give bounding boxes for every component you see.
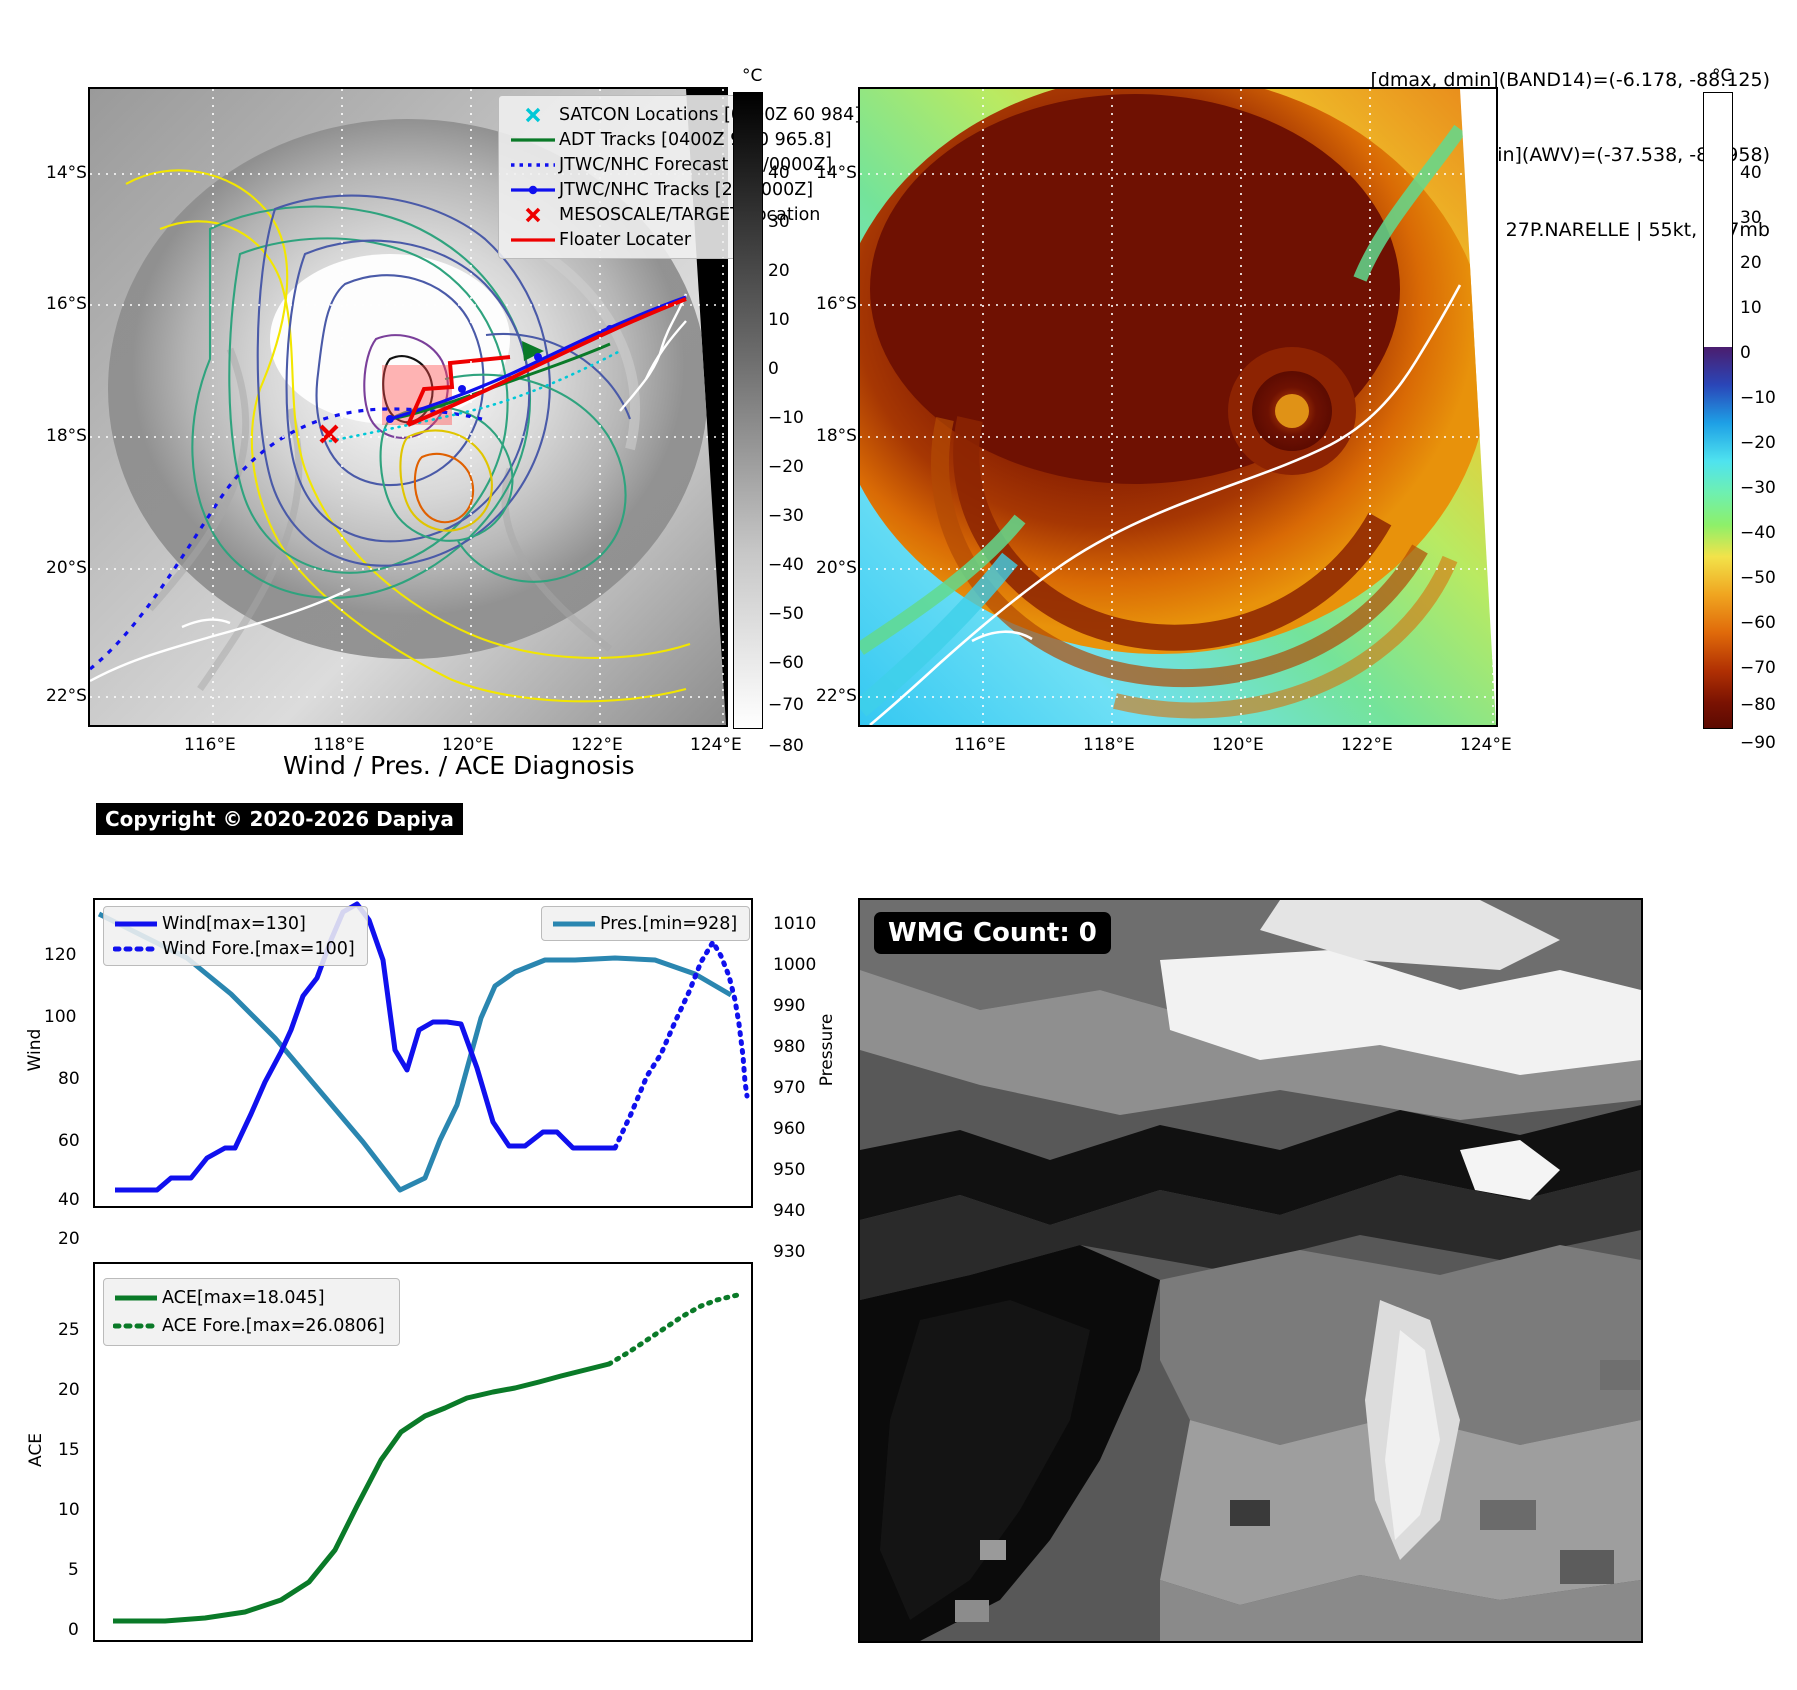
wind-axis-label: Wind (25, 1010, 45, 1090)
ir-colorbar (733, 92, 763, 729)
floater-line-icon (507, 234, 559, 246)
legend-item[interactable]: ADT Tracks [0400Z 90.0 965.8] (507, 127, 729, 152)
satcon-x-icon (507, 105, 559, 125)
legend-label: Floater Locater (559, 230, 691, 250)
pressure-chart-legend: Pres.[min=928] (541, 906, 750, 941)
legend-label: Pres.[min=928] (600, 914, 737, 934)
legend-item[interactable]: Pres.[min=928] (548, 911, 737, 936)
awv-satellite-panel[interactable] (858, 87, 1498, 727)
pressure-axis-label: Pressure (817, 1000, 837, 1100)
mesoscale-x-icon (507, 205, 559, 225)
wmg-count-badge: WMG Count: 0 (874, 912, 1111, 954)
legend-item[interactable]: ACE Fore.[max=26.0806] (110, 1312, 385, 1340)
legend-item[interactable]: ACE[max=18.045] (110, 1284, 385, 1312)
legend-label: JTWC/NHC Forecast [25/0000Z] (559, 155, 832, 175)
legend-item[interactable]: JTWC/NHC Forecast [25/0000Z] (507, 152, 729, 177)
legend-label: ACE Fore.[max=26.0806] (162, 1316, 385, 1336)
legend-label: SATCON Locations [0100Z 60 984] (559, 105, 861, 125)
awv-image (860, 89, 1496, 725)
pressure-line-icon (548, 918, 600, 930)
legend-item[interactable]: Wind[max=130] (110, 911, 355, 936)
legend-item[interactable]: Wind Fore.[max=100] (110, 936, 355, 961)
awv-colorbar (1703, 92, 1733, 729)
wind-forecast-dotted-icon (110, 943, 162, 955)
wind-chart-legend: Wind[max=130] Wind Fore.[max=100] (103, 906, 368, 966)
wmg-panel[interactable] (858, 898, 1643, 1643)
copyright-badge: Copyright © 2020-2026 Dapiya (96, 803, 463, 835)
legend-item[interactable]: SATCON Locations [0100Z 60 984] (507, 102, 729, 127)
wmg-image (860, 900, 1641, 1641)
legend-item[interactable]: MESOSCALE/TARGET Location (507, 202, 729, 227)
legend-label: Wind[max=130] (162, 914, 306, 934)
legend-label: ACE[max=18.045] (162, 1288, 325, 1308)
wind-line-icon (110, 918, 162, 930)
ace-line-icon (110, 1292, 162, 1304)
awv-colorbar-title: °C (1712, 66, 1732, 86)
ace-chart-legend: ACE[max=18.045] ACE Fore.[max=26.0806] (103, 1278, 400, 1346)
legend-label: ADT Tracks [0400Z 90.0 965.8] (559, 130, 832, 150)
jtwc-forecast-dotted-icon (507, 159, 559, 171)
adt-line-icon (507, 134, 559, 146)
ir-colorbar-title: °C (742, 66, 762, 86)
ace-forecast-dotted-icon (110, 1320, 162, 1332)
legend-item[interactable]: Floater Locater (507, 227, 729, 252)
legend-label: Wind Fore.[max=100] (162, 939, 355, 959)
ace-axis-label: ACE (26, 1412, 46, 1488)
ir-map-legend: SATCON Locations [0100Z 60 984] ADT Trac… (498, 95, 740, 259)
diagnosis-title: Wind / Pres. / ACE Diagnosis (283, 751, 635, 780)
legend-item[interactable]: JTWC/NHC Tracks [25/0000Z] (507, 177, 729, 202)
jtwc-track-marker-icon (507, 184, 559, 196)
